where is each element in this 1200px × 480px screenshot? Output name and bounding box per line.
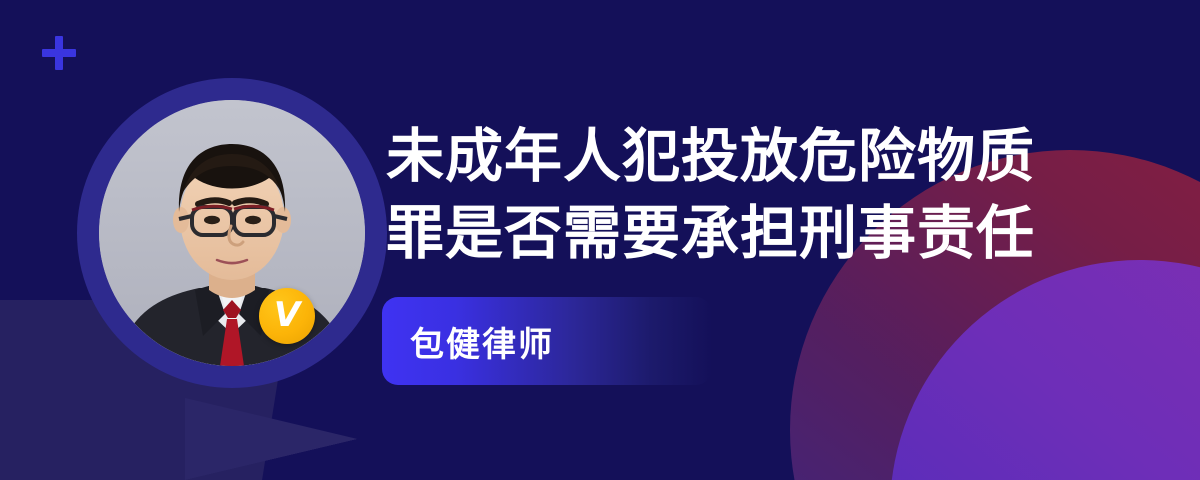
promo-banner: V 未成年人犯投放危险物质 罪是否需要承担刑事责任 包健律师	[0, 0, 1200, 480]
headline-block: 未成年人犯投放危险物质 罪是否需要承担刑事责任	[386, 118, 1176, 272]
page-title-line-2: 罪是否需要承担刑事责任	[386, 195, 1176, 272]
verified-badge-glyph: V	[274, 298, 300, 332]
avatar-photo	[99, 100, 365, 366]
background-triangle-bottom	[185, 398, 530, 480]
lawyer-name-chip[interactable]: 包健律师	[382, 297, 712, 385]
avatar[interactable]: V	[77, 78, 387, 388]
page-title-line-1: 未成年人犯投放危险物质	[386, 118, 1176, 195]
plus-icon	[42, 36, 76, 70]
page-title: 未成年人犯投放危险物质 罪是否需要承担刑事责任	[386, 118, 1176, 272]
verified-check-icon: V	[259, 288, 315, 344]
lawyer-name-label: 包健律师	[382, 317, 554, 366]
background-arc-purple	[890, 260, 1200, 480]
